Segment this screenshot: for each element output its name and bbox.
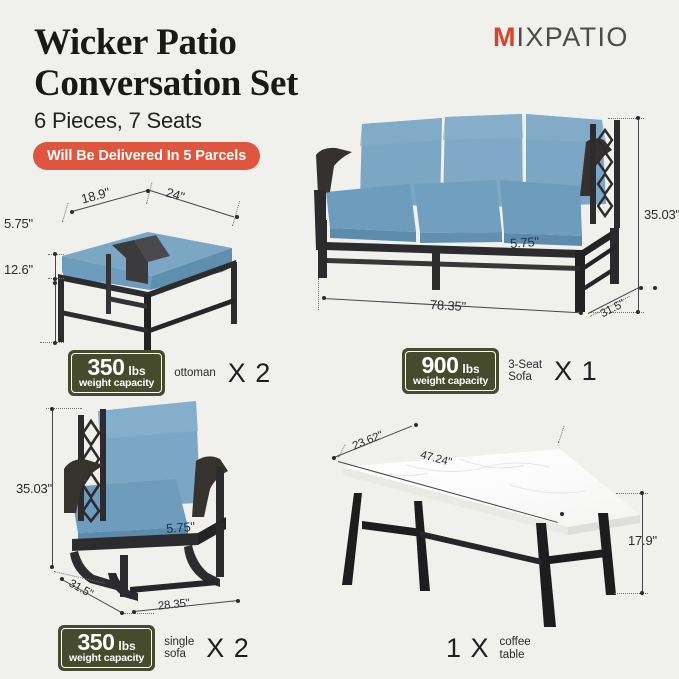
- delivery-badge: Will Be Delivered In 5 Parcels: [33, 142, 260, 170]
- dim-dot: [640, 491, 644, 495]
- subtitle: 6 Pieces, 7 Seats: [34, 108, 202, 134]
- ottoman-ext-line-f: [40, 342, 64, 343]
- ottoman-dim-cushion: 5.75": [4, 216, 33, 231]
- dim-dot: [132, 610, 136, 614]
- chair-dim-cushion: 5.75": [166, 519, 196, 536]
- logo-wordmark: IXPATIO: [517, 22, 629, 53]
- page-title: Wicker Patio Conversation Set: [34, 22, 434, 104]
- sofa-name: 3-Seat Sofa: [508, 359, 542, 384]
- ottoman-capacity-number: 350: [87, 356, 124, 378]
- ottoman-dim-frame-line: [55, 282, 56, 344]
- single-sofa-quantity: X 2: [206, 633, 250, 664]
- dim-dot: [639, 286, 643, 290]
- dim-dot: [53, 281, 57, 285]
- dim-dot: [636, 310, 640, 314]
- coffee-table-name: coffee table: [500, 636, 531, 661]
- dim-dot: [60, 577, 64, 581]
- dim-dot: [236, 599, 240, 603]
- dim-dot: [235, 215, 239, 219]
- coffee-table-badge-row: 1 X coffee table: [446, 633, 531, 664]
- dim-dot: [560, 512, 564, 516]
- dim-dot: [53, 341, 57, 345]
- sofa-panel: 35.03" 5.75" 78.35" 31.5" 900 lbs weight…: [290, 100, 679, 390]
- ottoman-capacity-unit: lbs: [128, 364, 145, 378]
- coffee-table-panel: 23.62" 47.24" 17.9" 1 X coffee table: [310, 415, 679, 679]
- dim-dot: [640, 591, 644, 595]
- sofa-capacity-badge: 900 lbs weight capacity: [402, 348, 499, 394]
- logo-m-icon: M: [493, 22, 516, 53]
- sofa-dim-cushion: 5.75": [510, 234, 540, 251]
- dim-dot: [50, 407, 54, 411]
- coffee-table-quantity: 1 X: [446, 633, 490, 664]
- table-dim-height: 17.9": [628, 533, 657, 548]
- ottoman-quantity: X 2: [228, 358, 272, 389]
- single-sofa-badge-row: 350 lbs weight capacity single sofa X 2: [58, 625, 250, 671]
- sofa-dim-width: 78.35": [430, 297, 467, 314]
- chair-dim-height: 35.03": [16, 481, 52, 496]
- product-infographic: Wicker Patio Conversation Set 6 Pieces, …: [0, 0, 679, 679]
- single-sofa-capacity-label: weight capacity: [69, 653, 144, 664]
- dim-dot: [332, 456, 336, 460]
- chair-dim-height-line: [52, 409, 53, 567]
- dim-dot: [50, 565, 54, 569]
- sofa-dim-height-line: [638, 118, 639, 312]
- dim-dot: [653, 286, 657, 290]
- dim-dot: [636, 116, 640, 120]
- title-line-1: Wicker Patio: [34, 22, 434, 63]
- sofa-ext-line-left: [318, 278, 320, 310]
- sofa-dim-height: 35.03": [644, 207, 679, 222]
- dim-dot: [53, 252, 57, 256]
- dim-dot: [414, 423, 418, 427]
- dim-dot: [70, 210, 74, 214]
- single-sofa-capacity-badge: 350 lbs weight capacity: [58, 625, 155, 671]
- title-line-2: Conversation Set: [34, 63, 434, 104]
- single-sofa-capacity-unit: lbs: [118, 639, 135, 653]
- sofa-badge-row: 900 lbs weight capacity 3-Seat Sofa X 1: [402, 348, 598, 394]
- sofa-capacity-label: weight capacity: [413, 376, 488, 387]
- single-sofa-illustration: [20, 387, 310, 617]
- sofa-quantity: X 1: [554, 356, 598, 387]
- ottoman-name: ottoman: [174, 367, 216, 380]
- dim-dot: [579, 311, 583, 315]
- ottoman-panel: 18.9" 24" 5.75" 12.6" 350 lbs: [0, 190, 290, 390]
- ottoman-dim-frame: 12.6": [4, 262, 33, 277]
- chair-ext-line-w: [124, 613, 154, 614]
- sofa-capacity-number: 900: [421, 354, 458, 376]
- sofa-capacity-unit: lbs: [462, 362, 479, 376]
- single-sofa-name: single sofa: [164, 636, 194, 661]
- single-sofa-panel: 35.03" 5.75" 31.5" 28.35" 350 lbs weight…: [20, 385, 310, 679]
- brand-logo: MIXPATIO: [493, 22, 629, 53]
- dim-dot: [322, 296, 326, 300]
- single-sofa-capacity-number: 350: [77, 631, 114, 653]
- ottoman-illustration: [0, 198, 290, 358]
